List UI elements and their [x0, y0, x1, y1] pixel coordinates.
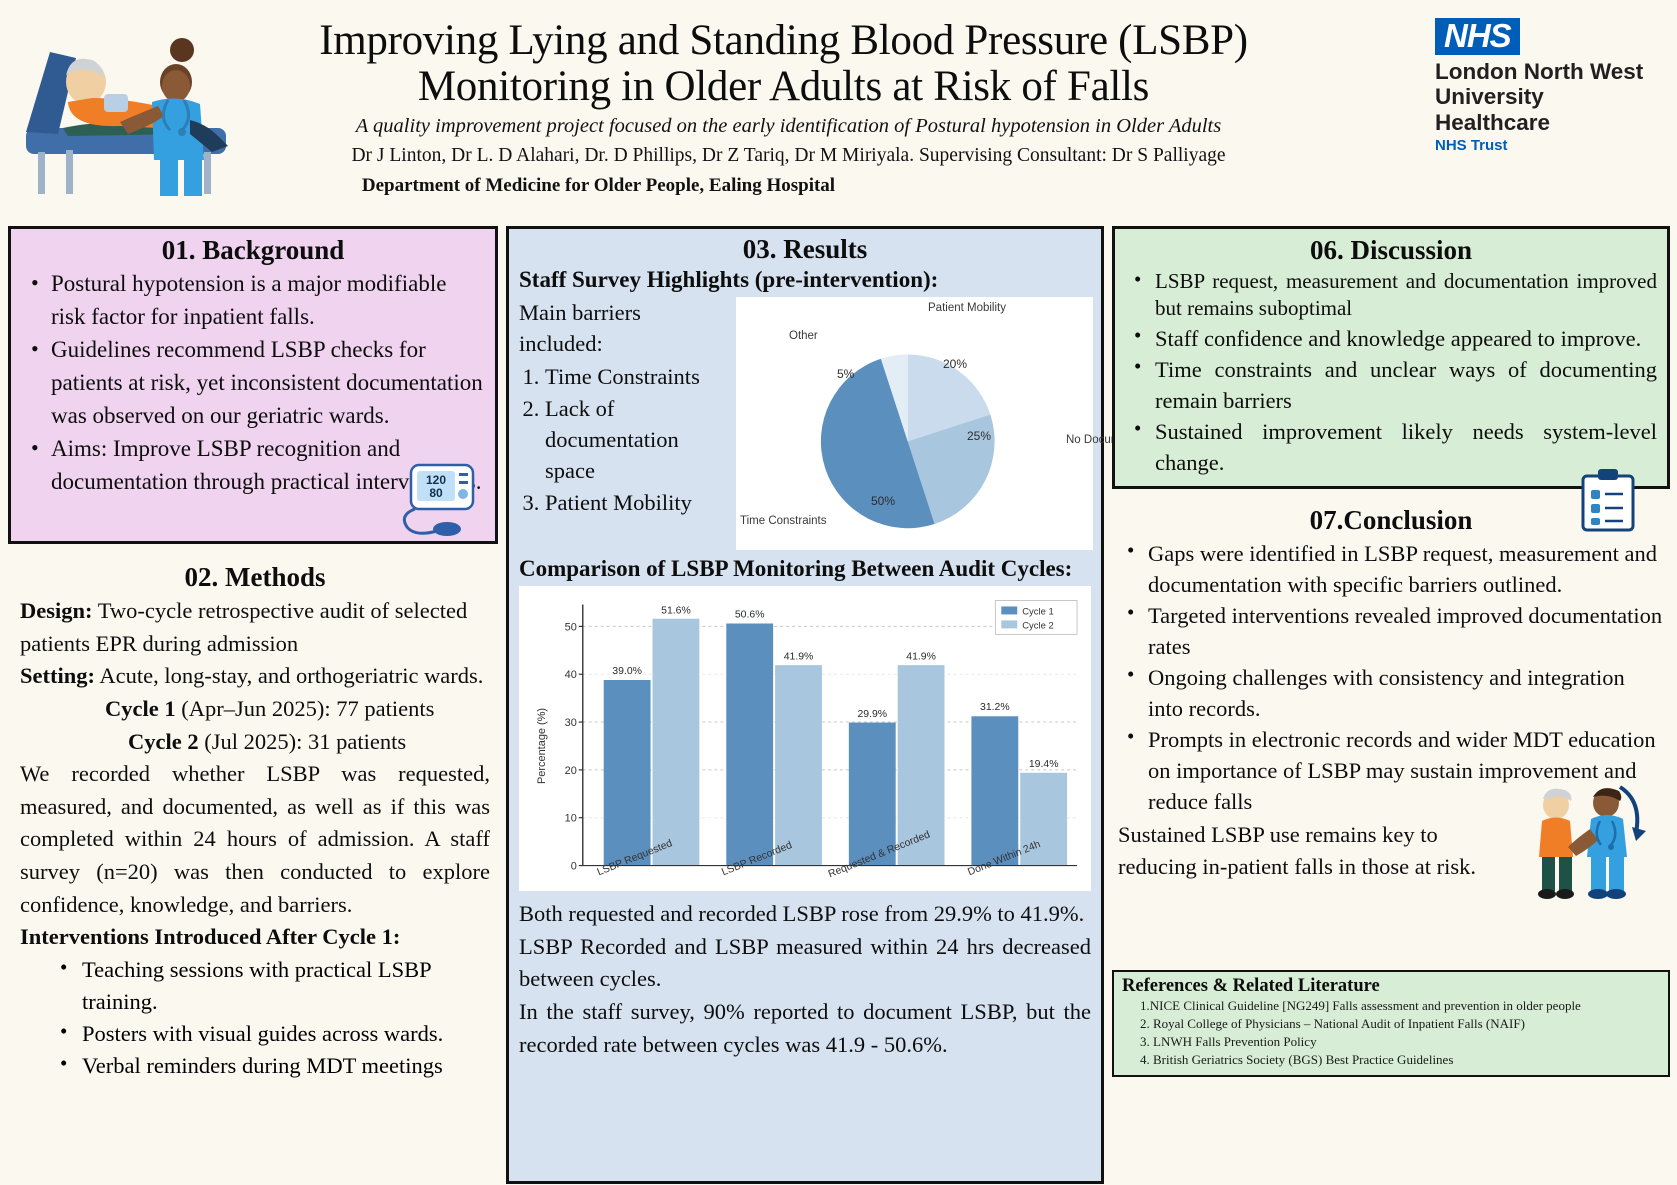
- list-item: 2. Royal College of Physicians – Nationa…: [1140, 1015, 1660, 1033]
- results-summary: Both requested and recorded LSBP rose fr…: [517, 898, 1093, 1061]
- bar-chart-svg: 0 10 20 30 40 50 Percentage (%): [519, 586, 1091, 891]
- barriers-pie-chart: Patient Mobility No Documentation Time C…: [736, 297, 1093, 550]
- svg-text:Percentage (%): Percentage (%): [536, 708, 548, 784]
- background-panel: 01. Background Postural hypotension is a…: [8, 226, 498, 544]
- discussion-bullet-list: LSBP request, measurement and documentat…: [1125, 268, 1657, 478]
- pie-value-patient-mobility: 20%: [943, 357, 967, 371]
- bar-chart-legend: Cycle 1 Cycle 2: [995, 600, 1077, 634]
- design-label: Design:: [20, 598, 93, 623]
- nhs-badge: NHS: [1435, 18, 1520, 55]
- list-item: 4. British Geriatrics Society (BGS) Best…: [1140, 1051, 1660, 1069]
- nhs-logo: NHS London North West University Healthc…: [1435, 18, 1665, 154]
- cycle2-text: (Jul 2025): 31 patients: [199, 729, 406, 754]
- pie-value-time-constraints: 50%: [871, 494, 895, 508]
- list-item: Gaps were identified in LSBP request, me…: [1118, 538, 1664, 600]
- setting-text: Acute, long-stay, and orthogeriatric war…: [95, 663, 483, 688]
- discussion-panel: 06. Discussion LSBP request, measurement…: [1112, 226, 1670, 489]
- svg-text:10: 10: [565, 813, 577, 825]
- barriers-list: Time Constraints Lack of documentation s…: [545, 361, 732, 518]
- conclusion-title: 07.Conclusion: [1118, 505, 1664, 536]
- svg-text:30: 30: [565, 717, 577, 729]
- pie-value-no-documentation: 25%: [967, 429, 991, 443]
- bar-chart-heading: Comparison of LSBP Monitoring Between Au…: [519, 556, 1093, 582]
- svg-text:80: 80: [429, 486, 443, 500]
- pie-value-other: 5%: [837, 367, 854, 381]
- poster-header: Improving Lying and Standing Blood Press…: [0, 0, 1677, 222]
- background-title: 01. Background: [21, 235, 485, 266]
- methods-section: 02. Methods Design: Two-cycle retrospect…: [8, 562, 498, 1083]
- list-item: Sustained improvement likely needs syste…: [1125, 416, 1657, 478]
- svg-text:Cycle 1: Cycle 1: [1022, 606, 1054, 617]
- conclusion-section: 07.Conclusion Gaps were identified in LS…: [1112, 505, 1670, 883]
- methods-setting: Setting: Acute, long-stay, and orthogeri…: [20, 660, 490, 693]
- pie-label-patient-mobility: Patient Mobility: [928, 302, 1006, 314]
- methods-cycle1: Cycle 1 (Apr–Jun 2025): 77 patients: [20, 693, 490, 726]
- svg-text:31.2%: 31.2%: [980, 702, 1010, 713]
- svg-text:50.6%: 50.6%: [735, 609, 765, 620]
- list-item: Time Constraints: [545, 361, 732, 392]
- methods-paragraph: We recorded whether LSBP was requested, …: [20, 758, 490, 921]
- blood-pressure-monitor-icon: 120 80: [393, 463, 481, 537]
- patient-on-bed-illustration: [8, 10, 258, 210]
- svg-text:50: 50: [565, 621, 577, 633]
- references-title: References & Related Literature: [1122, 976, 1660, 997]
- summary-line: Both requested and recorded LSBP rose fr…: [519, 898, 1091, 931]
- summary-line: LSBP Recorded and LSBP measured within 2…: [519, 931, 1091, 996]
- list-item: 1.NICE Clinical Guideline [NG249] Falls …: [1140, 997, 1660, 1015]
- barriers-heading: Main barriers included:: [519, 297, 732, 359]
- methods-title: 02. Methods: [20, 562, 490, 593]
- svg-text:19.4%: 19.4%: [1029, 759, 1059, 770]
- svg-text:Cycle 2: Cycle 2: [1022, 620, 1054, 631]
- right-column: 06. Discussion LSBP request, measurement…: [1112, 226, 1670, 883]
- cycle2-label: Cycle 2: [128, 729, 199, 754]
- results-title: 03. Results: [517, 234, 1093, 265]
- interventions-list: Teaching sessions with practical LSBP tr…: [20, 954, 490, 1083]
- pie-label-time-constraints: Time Constraints: [740, 515, 827, 527]
- svg-text:51.6%: 51.6%: [661, 605, 691, 616]
- nurse-assisting-patient-illustration: [1528, 783, 1648, 903]
- list-item: Verbal reminders during MDT meetings: [20, 1050, 490, 1082]
- barriers-block: Main barriers included: Time Constraints…: [517, 297, 732, 550]
- svg-text:120: 120: [426, 473, 446, 487]
- survey-heading: Staff Survey Highlights (pre-interventio…: [519, 267, 1093, 293]
- list-item: Time constraints and unclear ways of doc…: [1125, 354, 1657, 416]
- list-item: Staff confidence and knowledge appeared …: [1125, 323, 1657, 354]
- list-item: Posters with visual guides across wards.: [20, 1018, 490, 1050]
- svg-text:0: 0: [571, 861, 577, 873]
- svg-text:20: 20: [565, 765, 577, 777]
- results-panel: 03. Results Staff Survey Highlights (pre…: [506, 226, 1104, 1184]
- summary-line: In the staff survey, 90% reported to doc…: [519, 996, 1091, 1061]
- references-list: 1.NICE Clinical Guideline [NG249] Falls …: [1140, 997, 1660, 1069]
- methods-cycle2: Cycle 2 (Jul 2025): 31 patients: [20, 726, 490, 759]
- interventions-heading: Interventions Introduced After Cycle 1:: [20, 924, 400, 949]
- methods-design: Design: Two-cycle retrospective audit of…: [20, 595, 490, 660]
- references-panel: References & Related Literature 1.NICE C…: [1112, 970, 1670, 1077]
- svg-text:39.0%: 39.0%: [612, 666, 642, 677]
- cycle1-label: Cycle 1: [105, 696, 176, 721]
- conclusion-bullet-list: Gaps were identified in LSBP request, me…: [1118, 538, 1664, 817]
- list-item: Teaching sessions with practical LSBP tr…: [20, 954, 490, 1018]
- list-item: Ongoing challenges with consistency and …: [1118, 662, 1664, 724]
- list-item: Lack of documentation space: [545, 393, 732, 486]
- pie-label-other: Other: [789, 330, 818, 342]
- discussion-title: 06. Discussion: [1125, 235, 1657, 266]
- list-item: 3. LNWH Falls Prevention Policy: [1140, 1033, 1660, 1051]
- trust-subline: NHS Trust: [1435, 137, 1665, 154]
- list-item: Guidelines recommend LSBP checks for pat…: [21, 334, 485, 432]
- svg-text:41.9%: 41.9%: [784, 651, 814, 662]
- svg-text:29.9%: 29.9%: [857, 709, 887, 720]
- trust-name: London North West University Healthcare: [1435, 59, 1665, 135]
- list-item: Targeted interventions revealed improved…: [1118, 600, 1664, 662]
- svg-text:40: 40: [565, 669, 577, 681]
- setting-label: Setting:: [20, 663, 95, 688]
- svg-text:41.9%: 41.9%: [906, 651, 936, 662]
- list-item: Patient Mobility: [545, 487, 732, 518]
- list-item: LSBP request, measurement and documentat…: [1125, 268, 1657, 323]
- list-item: Postural hypotension is a major modifiab…: [21, 268, 485, 333]
- audit-cycle-bar-chart: 0 10 20 30 40 50 Percentage (%): [519, 586, 1091, 891]
- cycle1-text: (Apr–Jun 2025): 77 patients: [176, 696, 435, 721]
- left-column: 01. Background Postural hypotension is a…: [8, 226, 498, 1083]
